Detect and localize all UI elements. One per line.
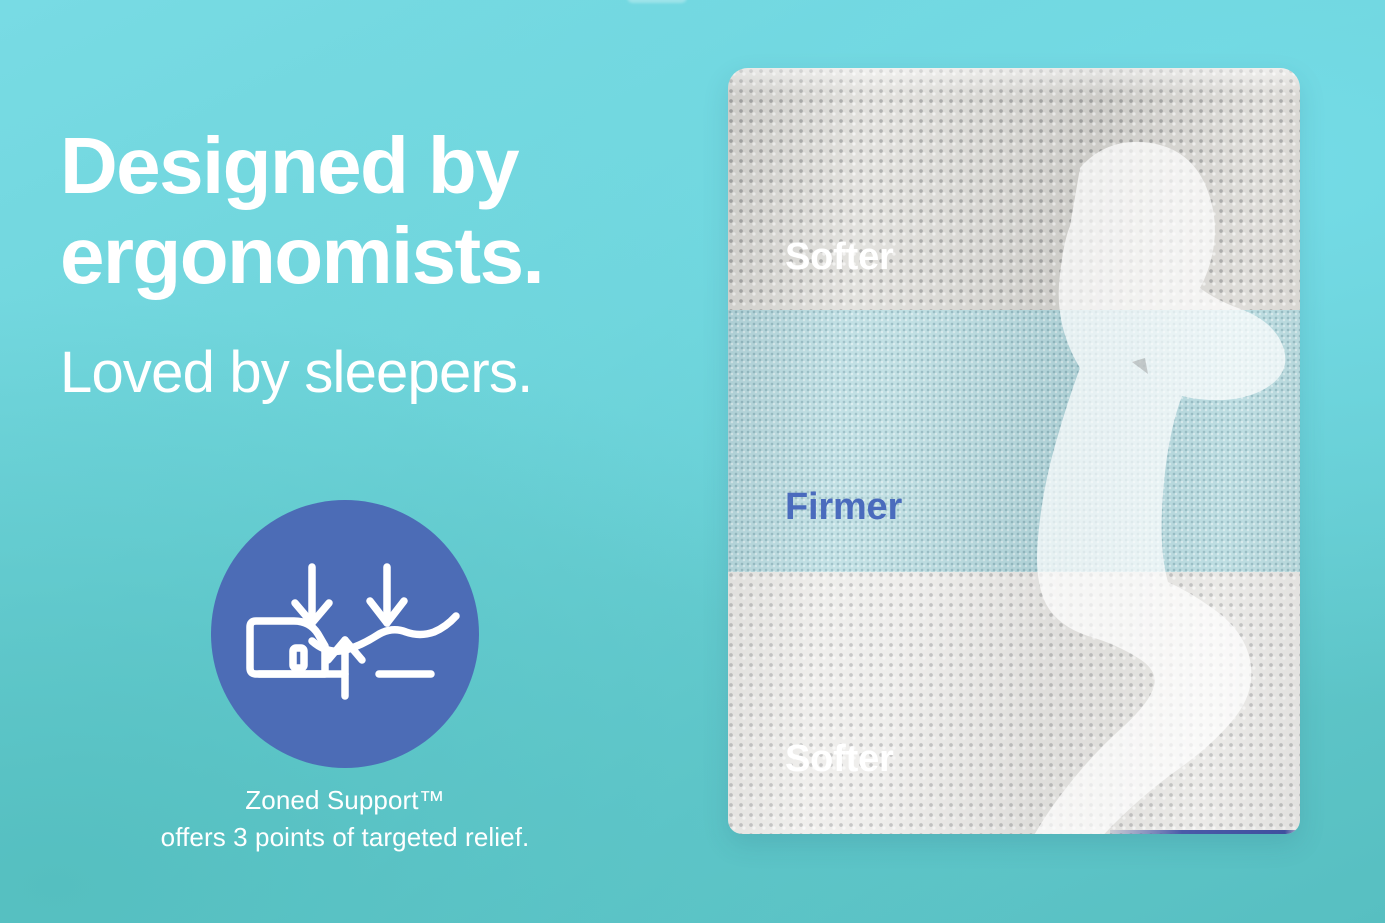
zoned-support-badge (211, 500, 479, 768)
mattress-zone-softer-bottom (728, 572, 1300, 834)
zone-label-softer-bottom: Softer (785, 738, 894, 781)
up-arrow-center (328, 640, 362, 696)
zone-label-softer-top: Softer (785, 236, 894, 279)
down-arrow-right (370, 567, 404, 623)
caption-line-2: offers 3 points of targeted relief. (0, 819, 690, 856)
mattress-product-image: Softer Firmer Softer (728, 68, 1300, 834)
pillow-detail (293, 648, 304, 668)
headline-line-1: Designed by (60, 121, 660, 211)
knit-texture (728, 310, 1300, 572)
caption-line-1: Zoned Support™ (0, 782, 690, 819)
down-arrow-left (295, 567, 329, 623)
zoned-support-pressure-relief-icon (211, 500, 479, 768)
promo-banner: Designed by ergonomists. Loved by sleepe… (0, 0, 1385, 923)
page-title: Designed by ergonomists. (60, 121, 660, 300)
left-content-column: Designed by ergonomists. Loved by sleepe… (0, 0, 700, 923)
mattress-foundation-edge (1110, 830, 1300, 834)
pillow-head-shape (250, 621, 325, 674)
zone-label-firmer: Firmer (785, 486, 902, 529)
badge-caption: Zoned Support™ offers 3 points of target… (0, 782, 690, 856)
knit-texture (728, 572, 1300, 834)
headline-line-2: ergonomists. (60, 211, 660, 301)
subheadline: Loved by sleepers. (60, 341, 532, 406)
mattress-zone-firmer (728, 310, 1300, 572)
